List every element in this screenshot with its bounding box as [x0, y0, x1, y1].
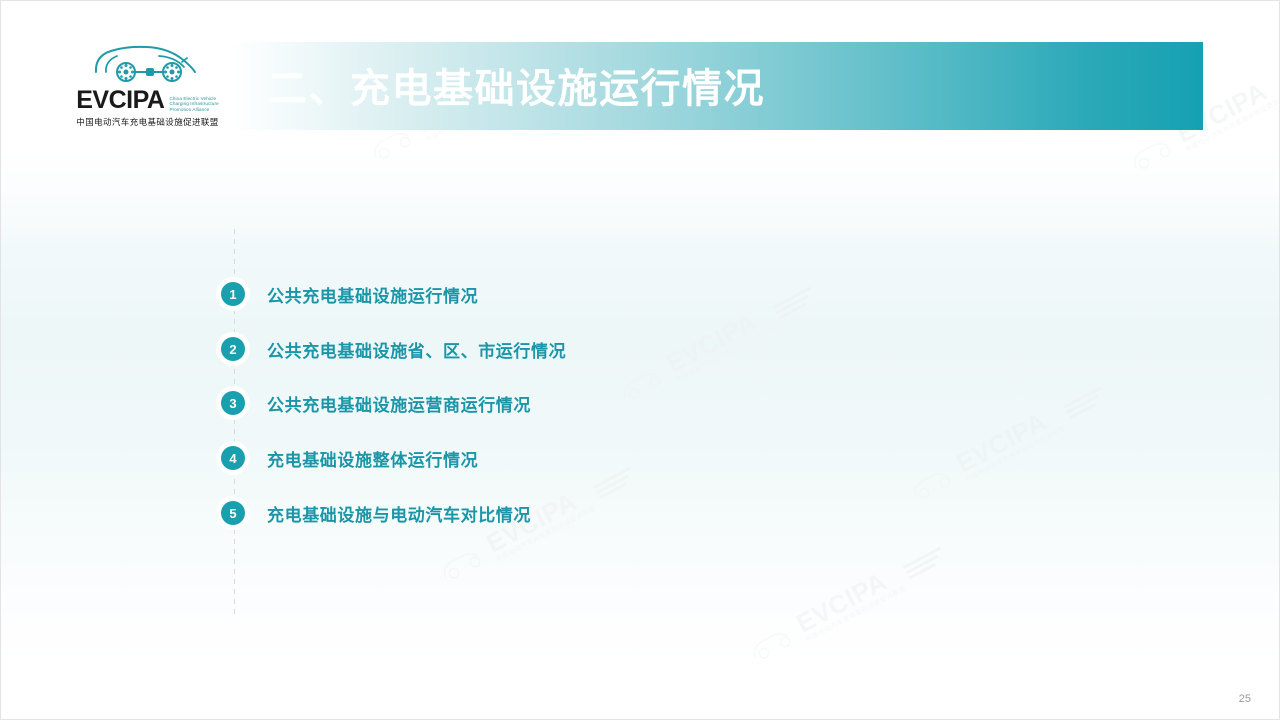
watermark-wordmark: EVCIPA [952, 401, 1063, 477]
watermark-text: EVCIPA 中国电动汽车充电基础设施促进联盟 [792, 561, 907, 644]
logo-wordmark: EVCIPA [76, 88, 164, 113]
agenda-number-badge-4: 4 [221, 446, 245, 470]
agenda-badge-wrap-3: 3 [209, 384, 259, 422]
slide-canvas: EVCIPA 中国电动汽车充电基础设施促进联盟 EVCIPA 中国电动汽车充电 [0, 0, 1280, 720]
agenda-item-label-2: 公共充电基础设施省、区、市运行情况 [267, 337, 566, 362]
electric-car-charging-icon [84, 39, 212, 87]
watermark-bars-icon [593, 466, 637, 499]
watermark-mark: EVCIPA 中国电动汽车充电基础设施促进联盟 [611, 278, 821, 412]
logo-english-line-3: Promotion Alliance [169, 107, 218, 112]
page-number: 25 [1239, 693, 1251, 705]
watermark-bars-icon [1063, 386, 1107, 419]
agenda-item-5[interactable]: 5 充电基础设施与电动汽车对比情况 [209, 494, 531, 532]
agenda-number-badge-3: 3 [221, 391, 245, 415]
agenda-badge-wrap-4: 4 [209, 439, 259, 477]
agenda-badge-wrap-1: 1 [209, 275, 259, 313]
watermark-mark: EVCIPA 中国电动汽车充电基础设施促进联盟 [901, 378, 1111, 512]
watermark-text: EVCIPA 中国电动汽车充电基础设施促进联盟 [662, 301, 777, 384]
agenda-item-2[interactable]: 2 公共充电基础设施省、区、市运行情况 [209, 330, 566, 368]
logo-chinese-name: 中国电动汽车充电基础设施促进联盟 [75, 116, 220, 128]
agenda-number-badge-1: 1 [221, 282, 245, 306]
watermark-text: EVCIPA 中国电动汽车充电基础设施促进联盟 [952, 401, 1067, 484]
agenda-badge-wrap-5: 5 [209, 494, 259, 532]
watermark-wordmark: EVCIPA [662, 301, 773, 377]
watermark-car-icon [903, 460, 961, 507]
agenda-badge-wrap-2: 2 [209, 330, 259, 368]
watermark-car-icon [433, 540, 491, 587]
watermark-chinese: 中国电动汽车充电基础设施促进联盟 [805, 586, 907, 644]
watermark-mark: EVCIPA 中国电动汽车充电基础设施促进联盟 [741, 538, 951, 672]
watermark-car-icon [613, 360, 671, 407]
agenda-item-label-1: 公共充电基础设施运行情况 [267, 282, 478, 307]
watermark-bars-icon [903, 546, 947, 579]
agenda-item-1[interactable]: 1 公共充电基础设施运行情况 [209, 275, 478, 313]
evcipa-logo: EVCIPA China Electric Vehicle Charging I… [75, 39, 220, 128]
agenda-number-badge-5: 5 [221, 501, 245, 525]
watermark-car-icon [743, 620, 801, 667]
watermark-car-icon [1123, 130, 1181, 177]
agenda-item-3[interactable]: 3 公共充电基础设施运营商运行情况 [209, 384, 531, 422]
agenda-number-badge-2: 2 [221, 337, 245, 361]
watermark-chinese: 中国电动汽车充电基础设施促进联盟 [675, 326, 777, 384]
logo-english-lines: China Electric Vehicle Charging Infrastr… [169, 96, 218, 113]
watermark-bars-icon [773, 286, 817, 319]
agenda-item-label-3: 公共充电基础设施运营商运行情况 [267, 391, 531, 416]
watermark-chinese: 中国电动汽车充电基础设施促进联盟 [965, 426, 1067, 484]
section-header-banner: 二、充电基础设施运行情况 [231, 42, 1203, 130]
agenda-item-label-5: 充电基础设施与电动汽车对比情况 [267, 501, 531, 526]
agenda-item-label-4: 充电基础设施整体运行情况 [267, 446, 478, 471]
agenda-item-4[interactable]: 4 充电基础设施整体运行情况 [209, 439, 478, 477]
page-title: 二、充电基础设施运行情况 [267, 56, 765, 114]
logo-english-line-2: Charging Infrastructure [169, 101, 218, 106]
watermark-wordmark: EVCIPA [792, 561, 903, 637]
